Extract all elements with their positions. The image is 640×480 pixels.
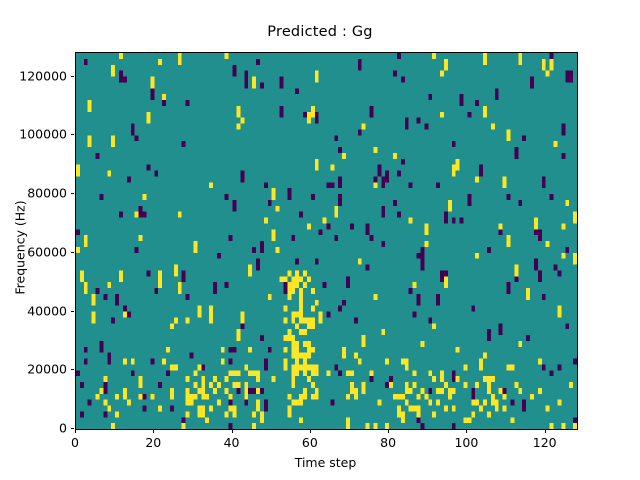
x-tick-mark: [545, 429, 546, 433]
x-tick-mark: [232, 429, 233, 433]
x-tick-label: 100: [454, 435, 478, 450]
y-tick-mark: [71, 428, 75, 429]
x-tick-label: 60: [302, 435, 318, 450]
y-tick-label: 100000: [19, 127, 67, 142]
x-tick-mark: [388, 429, 389, 433]
y-tick-label: 0: [59, 421, 67, 436]
x-tick-label: 40: [224, 435, 240, 450]
x-tick-mark: [466, 429, 467, 433]
x-tick-label: 120: [533, 435, 557, 450]
y-tick-mark: [71, 76, 75, 77]
x-axis-label: Time step: [75, 455, 576, 470]
x-tick-mark: [153, 429, 154, 433]
y-tick-mark: [71, 252, 75, 253]
x-tick-mark: [310, 429, 311, 433]
y-tick-label: 60000: [27, 244, 67, 259]
x-tick-label: 0: [71, 435, 79, 450]
y-tick-mark: [71, 369, 75, 370]
heatmap-axes: [75, 52, 578, 430]
chart-title: Predicted : Gg: [0, 24, 640, 40]
x-tick-mark: [75, 429, 76, 433]
y-tick-mark: [71, 193, 75, 194]
x-tick-label: 80: [380, 435, 396, 450]
y-tick-mark: [71, 311, 75, 312]
x-tick-label: 20: [145, 435, 161, 450]
heatmap-image: [76, 53, 577, 429]
y-tick-label: 80000: [27, 186, 67, 201]
figure-canvas: Predicted : Gg 0204060801001200200004000…: [0, 0, 640, 480]
y-tick-label: 20000: [27, 362, 67, 377]
y-tick-label: 40000: [27, 303, 67, 318]
y-tick-label: 120000: [19, 68, 67, 83]
y-axis-label: Frequency (Hz): [13, 173, 28, 323]
y-tick-mark: [71, 134, 75, 135]
